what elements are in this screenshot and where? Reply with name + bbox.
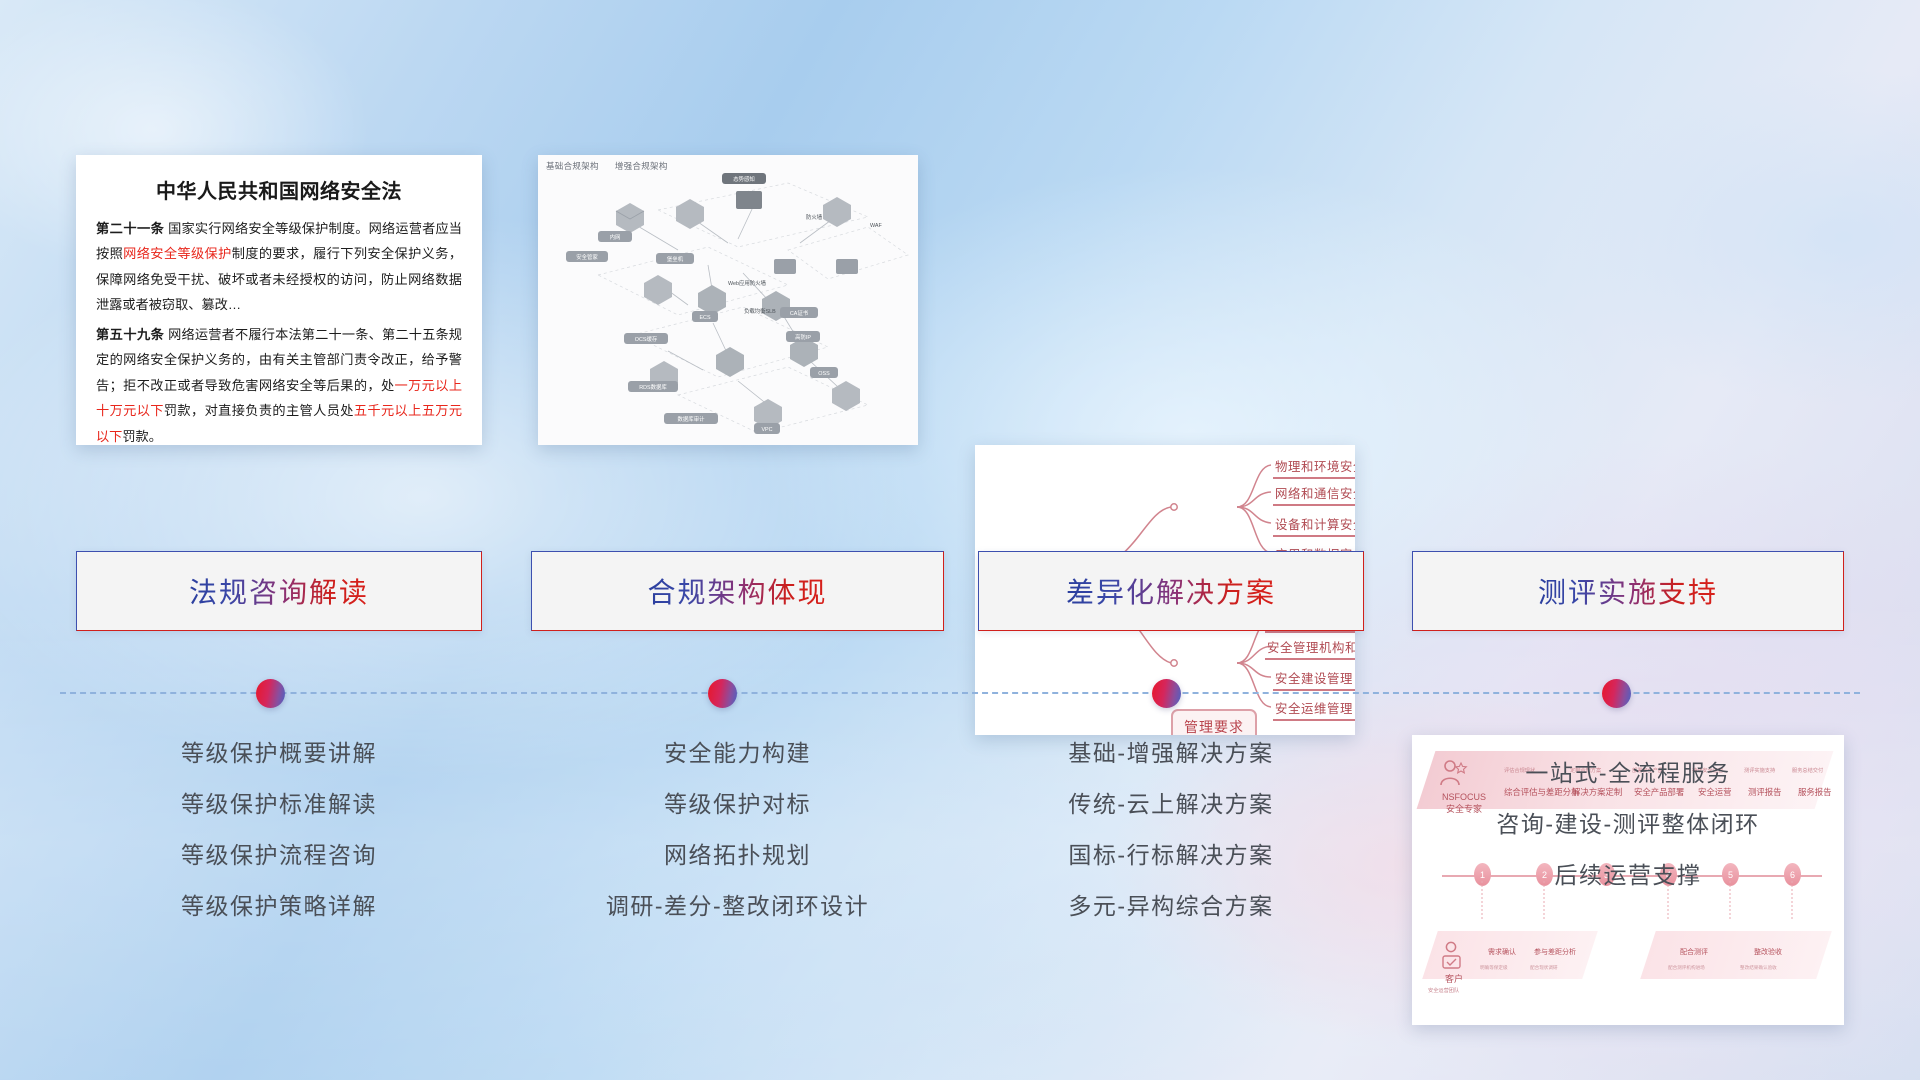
mindmap-leaf-t0: 物理和环境安全	[1273, 457, 1355, 479]
flow-bottom-band-right	[1640, 931, 1832, 979]
law-article-21-highlight: 网络安全等级保护	[123, 246, 232, 261]
mindmap-leaf-m3: 安全运维管理	[1273, 699, 1355, 721]
mindmap-leaf-t1: 网络和通信安全	[1273, 484, 1355, 506]
arch-node-label-5: WAF	[870, 223, 882, 229]
list-item: 调研-差分-整改闭环设计	[531, 895, 944, 918]
bottom-list-3: 一站式-全流程服务 咨询-建设-测评整体闭环 后续运营支撑	[1412, 762, 1844, 915]
list-item: 基础-增强解决方案	[978, 742, 1364, 765]
arch-node-label-4: 防火墙	[806, 213, 823, 221]
list-item: 等级保护流程咨询	[76, 844, 482, 867]
section-label-2-text: 差异化解决方案	[1066, 571, 1276, 611]
mindmap-leaf-m1: 安全管理机构和人员	[1265, 638, 1355, 660]
arch-node-label-14: VPC	[761, 427, 772, 433]
flow-client-role: 安全运营团队	[1428, 987, 1459, 994]
timeline-dot-3	[1602, 679, 1631, 708]
list-item: 传统-云上解决方案	[978, 793, 1364, 816]
list-item: 等级保护标准解读	[76, 793, 482, 816]
list-item: 咨询-建设-测评整体闭环	[1412, 813, 1844, 836]
timeline-dot-0	[256, 679, 285, 708]
mindmap-leaf-t2: 设备和计算安全	[1273, 515, 1355, 537]
mindmap-leaf-m2: 安全建设管理	[1273, 669, 1355, 691]
flow-client-name: 客户	[1430, 973, 1478, 985]
section-label-2[interactable]: 差异化解决方案	[978, 551, 1364, 631]
flow-bottom-step-3-sub: 整改结果确认验收	[1740, 965, 1777, 971]
arch-node-label-6: Web应用防火墙	[728, 279, 767, 287]
arch-node-label-0: 内网	[610, 233, 621, 241]
arch-node-label-8: 负载均衡SLB	[744, 307, 776, 315]
flow-bottom-step-0-sub: 明确等保定级	[1480, 965, 1508, 971]
list-item: 等级保护对标	[531, 793, 944, 816]
section-label-3-text: 测评实施支持	[1538, 571, 1718, 611]
bottom-list-0: 等级保护概要讲解 等级保护标准解读 等级保护流程咨询 等级保护策略详解	[76, 742, 482, 946]
list-item: 网络拓扑规划	[531, 844, 944, 867]
list-item: 等级保护概要讲解	[76, 742, 482, 765]
section-label-1-text: 合规架构体现	[647, 571, 827, 611]
bottom-list-1: 安全能力构建 等级保护对标 网络拓扑规划 调研-差分-整改闭环设计	[531, 742, 944, 946]
flow-bottom-step-1-sub: 配合现状调研	[1530, 965, 1558, 971]
arch-node-label-3: 态势感知	[733, 175, 755, 183]
list-item: 后续运营支撑	[1412, 864, 1844, 887]
arch-node-label-1: 安全管家	[576, 253, 598, 261]
list-item: 国标-行标解决方案	[978, 844, 1364, 867]
arch-node-label-2: 堡垒机	[667, 255, 684, 263]
section-label-0-text: 法规咨询解读	[189, 571, 369, 611]
arch-node-label-9: CA证书	[790, 309, 809, 317]
mindmap-branch-management: 管理要求	[1171, 709, 1257, 735]
law-paragraph-21: 第二十一条 国家实行网络安全等级保护制度。网络运营者应当按照网络安全等级保护制度…	[96, 216, 462, 318]
arch-node-label-7: ECS	[699, 315, 710, 321]
section-label-3[interactable]: 测评实施支持	[1412, 551, 1844, 631]
law-article-59-text-b: 罚款，对直接负责的主管人员处	[164, 403, 354, 418]
section-label-0[interactable]: 法规咨询解读	[76, 551, 482, 631]
flow-bottom-step-2-label: 配合测评	[1680, 947, 1708, 957]
law-title: 中华人民共和国网络安全法	[96, 175, 462, 204]
timeline-dot-2	[1152, 679, 1181, 708]
arch-node-label-10: 高防IP	[795, 333, 811, 341]
arch-node-label-12: RDS数据库	[639, 383, 667, 391]
list-item: 安全能力构建	[531, 742, 944, 765]
flow-bottom-step-3-label: 整改验收	[1754, 947, 1782, 957]
timeline-dashed-line	[60, 692, 1860, 694]
arch-node-label-11: OCS缓存	[635, 335, 658, 343]
law-article-59-number: 第五十九条	[96, 327, 164, 342]
flow-bottom-step-1-label: 参与差距分析	[1534, 947, 1576, 957]
section-label-1[interactable]: 合规架构体现	[531, 551, 944, 631]
card-architecture-diagram: 基础合规架构增强合规架构	[538, 155, 918, 445]
client-person-icon	[1438, 939, 1468, 971]
bottom-list-2: 基础-增强解决方案 传统-云上解决方案 国标-行标解决方案 多元-异构综合方案	[978, 742, 1364, 946]
law-article-21-number: 第二十一条	[96, 221, 164, 236]
flow-bottom-step-0-label: 需求确认	[1488, 947, 1516, 957]
law-article-59-text-c: 罚款。	[122, 429, 162, 444]
architecture-svg: 内网 安全管家 堡垒机 态势感知 防火墙 WAF Web应用防火墙 ECS 负载…	[538, 155, 918, 445]
list-item: 一站式-全流程服务	[1412, 762, 1844, 785]
flow-bottom-step-2-sub: 配合测评机构进场	[1668, 965, 1705, 971]
list-item: 等级保护策略详解	[76, 895, 482, 918]
card-law-text: 中华人民共和国网络安全法 第二十一条 国家实行网络安全等级保护制度。网络运营者应…	[76, 155, 482, 445]
law-paragraph-59: 第五十九条 网络运营者不履行本法第二十一条、第二十五条规定的网络安全保护义务的，…	[96, 322, 462, 445]
arch-node-label-15: 数据库审计	[678, 415, 706, 423]
timeline-dot-1	[708, 679, 737, 708]
arch-node-label-13: OSS	[818, 371, 830, 377]
list-item: 多元-异构综合方案	[978, 895, 1364, 918]
